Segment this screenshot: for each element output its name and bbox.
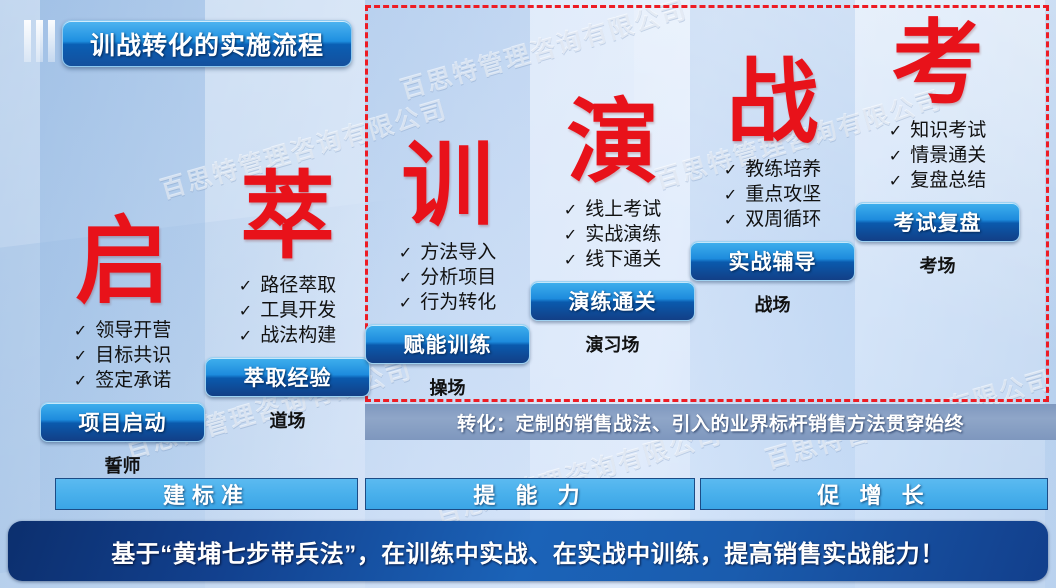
list-item: ✓分析项目	[399, 265, 496, 290]
stage-big-char: 考	[855, 18, 1020, 110]
category-label-cuzengzhang[interactable]: 促 增 长	[700, 478, 1048, 510]
check-icon: ✓	[239, 276, 252, 297]
stage-button[interactable]: 实战辅导	[690, 241, 855, 281]
stage-column-yan: 演 ✓线上考试 ✓实战演练 ✓线下通关 演练通关 演习场	[530, 97, 695, 357]
list-item: ✓重点攻坚	[724, 182, 821, 207]
stage-bullet-list: ✓领导开营 ✓目标共识 ✓签定承诺	[74, 318, 171, 393]
stage-place-label: 考场	[855, 252, 1020, 278]
list-item: ✓领导开营	[74, 318, 171, 343]
check-icon: ✓	[399, 293, 412, 314]
stage-big-char: 战	[690, 57, 855, 149]
transform-banner: 转化：定制的销售战法、引入的业界标杆销售方法贯穿始终	[365, 404, 1056, 440]
stage-bullet-list: ✓知识考试 ✓情景通关 ✓复盘总结	[889, 118, 986, 193]
stage-big-char: 训	[365, 140, 530, 232]
check-icon: ✓	[74, 321, 87, 342]
category-label-row: 建标准 提 能 力 促 增 长	[0, 478, 1056, 512]
list-item: ✓行为转化	[399, 290, 496, 315]
list-item: ✓线上考试	[564, 197, 661, 222]
list-item: ✓实战演练	[564, 222, 661, 247]
slide-canvas: 百思特管理咨询有限公司 百思特管理咨询有限公司 百思特管理咨询有限公司 百思特管…	[0, 0, 1056, 588]
check-icon: ✓	[724, 210, 737, 231]
stage-place-label: 誓师	[40, 452, 205, 478]
check-icon: ✓	[399, 243, 412, 264]
list-item: ✓战法构建	[239, 323, 336, 348]
list-item: ✓路径萃取	[239, 273, 336, 298]
stage-bullet-list: ✓线上考试 ✓实战演练 ✓线下通关	[564, 197, 661, 272]
category-label-tinengli[interactable]: 提 能 力	[365, 478, 695, 510]
check-icon: ✓	[564, 200, 577, 221]
list-item: ✓情景通关	[889, 143, 986, 168]
check-icon: ✓	[399, 268, 412, 289]
stage-column-qi: 启 ✓领导开营 ✓目标共识 ✓签定承诺 项目启动 誓师	[40, 215, 205, 478]
list-item: ✓工具开发	[239, 298, 336, 323]
stage-place-label: 演习场	[530, 331, 695, 357]
check-icon: ✓	[239, 301, 252, 322]
stage-button[interactable]: 考试复盘	[855, 202, 1020, 242]
stage-bullet-list: ✓方法导入 ✓分析项目 ✓行为转化	[399, 240, 496, 315]
stage-column-kao: 考 ✓知识考试 ✓情景通关 ✓复盘总结 考试复盘 考场	[855, 18, 1020, 278]
stage-button[interactable]: 赋能训练	[365, 324, 530, 364]
list-item: ✓双周循环	[724, 207, 821, 232]
check-icon: ✓	[724, 160, 737, 181]
three-bars-icon	[24, 20, 55, 62]
check-icon: ✓	[74, 371, 87, 392]
list-item: ✓复盘总结	[889, 168, 986, 193]
stage-big-char: 启	[40, 215, 205, 310]
category-label-jianbiaozhun[interactable]: 建标准	[55, 478, 358, 510]
list-item: ✓知识考试	[889, 118, 986, 143]
stage-column-xun: 训 ✓方法导入 ✓分析项目 ✓行为转化 赋能训练 操场	[365, 140, 530, 400]
stage-column-zhan: 战 ✓教练培养 ✓重点攻坚 ✓双周循环 实战辅导 战场	[690, 57, 855, 317]
stage-big-char: 演	[530, 97, 695, 189]
list-item: ✓教练培养	[724, 157, 821, 182]
stage-bullet-list: ✓路径萃取 ✓工具开发 ✓战法构建	[239, 273, 336, 348]
stage-place-label: 操场	[365, 374, 530, 400]
bottom-banner: 基于“黄埔七步带兵法”，在训练中实战、在实战中训练，提高销售实战能力！	[8, 521, 1048, 581]
check-icon: ✓	[724, 185, 737, 206]
check-icon: ✓	[889, 146, 902, 167]
stage-button[interactable]: 项目启动	[40, 402, 205, 442]
stage-bullet-list: ✓教练培养 ✓重点攻坚 ✓双周循环	[724, 157, 821, 232]
page-title: 训战转化的实施流程	[62, 20, 352, 67]
list-item: ✓线下通关	[564, 247, 661, 272]
stage-place-label: 道场	[205, 407, 370, 433]
stage-button[interactable]: 演练通关	[530, 281, 695, 321]
check-icon: ✓	[889, 121, 902, 142]
check-icon: ✓	[239, 326, 252, 347]
check-icon: ✓	[564, 250, 577, 271]
stage-column-cui: 萃 ✓路径萃取 ✓工具开发 ✓战法构建 萃取经验 道场	[205, 170, 370, 433]
list-item: ✓目标共识	[74, 343, 171, 368]
check-icon: ✓	[564, 225, 577, 246]
stage-big-char: 萃	[205, 170, 370, 265]
list-item: ✓方法导入	[399, 240, 496, 265]
list-item: ✓签定承诺	[74, 368, 171, 393]
stage-place-label: 战场	[690, 291, 855, 317]
check-icon: ✓	[889, 171, 902, 192]
check-icon: ✓	[74, 346, 87, 367]
stage-button[interactable]: 萃取经验	[205, 357, 370, 397]
